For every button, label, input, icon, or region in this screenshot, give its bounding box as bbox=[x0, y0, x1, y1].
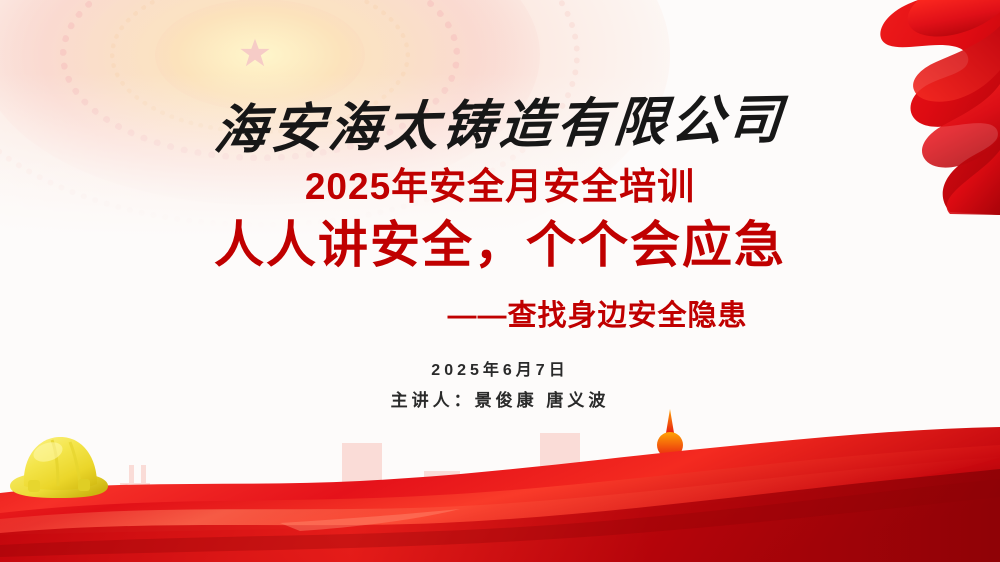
presenters: 主讲人：景俊康 唐义波 bbox=[0, 386, 1000, 411]
tagline: ——查找身边安全隐患 bbox=[0, 292, 1000, 334]
presentation-slide: 海安海太铸造有限公司 2025年安全月安全培训 人人讲安全，个个会应急 ——查找… bbox=[0, 0, 1000, 562]
company-title: 海安海太铸造有限公司 bbox=[0, 73, 1000, 168]
main-slogan: 人人讲安全，个个会应急 bbox=[0, 205, 1000, 277]
course-subtitle: 2025年安全月安全培训 bbox=[0, 156, 1000, 210]
event-date: 2025年6月7日 bbox=[0, 356, 1000, 380]
slide-text-block: 海安海太铸造有限公司 2025年安全月安全培训 人人讲安全，个个会应急 ——查找… bbox=[0, 0, 1000, 562]
